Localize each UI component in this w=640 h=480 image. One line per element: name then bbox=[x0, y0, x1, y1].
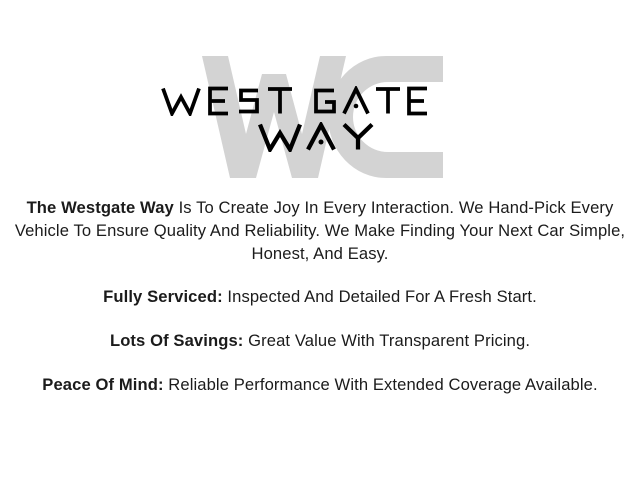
promo-panel: WESTGATE bbox=[0, 0, 640, 480]
brand-logo: WESTGATE bbox=[0, 46, 640, 186]
paragraph-lead: The Westgate Way bbox=[27, 198, 174, 217]
body-copy: The Westgate Way Is To Create Joy In Eve… bbox=[0, 196, 640, 396]
paragraph-text: Inspected And Detailed For A Fresh Start… bbox=[223, 287, 537, 306]
paragraph-lots-of-savings: Lots Of Savings: Great Value With Transp… bbox=[12, 329, 628, 352]
paragraph-text: Great Value With Transparent Pricing. bbox=[243, 331, 530, 350]
paragraph-lead: Lots Of Savings: bbox=[110, 331, 243, 350]
paragraph-westgate-way: The Westgate Way Is To Create Joy In Eve… bbox=[12, 196, 628, 265]
paragraph-fully-serviced: Fully Serviced: Inspected And Detailed F… bbox=[12, 285, 628, 308]
paragraph-text: Reliable Performance With Extended Cover… bbox=[164, 375, 598, 394]
wordmark-way: WAY bbox=[0, 122, 640, 152]
wordmark: WESTGATE bbox=[0, 46, 640, 152]
paragraph-lead: Peace Of Mind: bbox=[42, 375, 163, 394]
paragraph-peace-of-mind: Peace Of Mind: Reliable Performance With… bbox=[12, 373, 628, 396]
wordmark-westgate: WESTGATE bbox=[0, 86, 640, 116]
paragraph-lead: Fully Serviced: bbox=[103, 287, 223, 306]
